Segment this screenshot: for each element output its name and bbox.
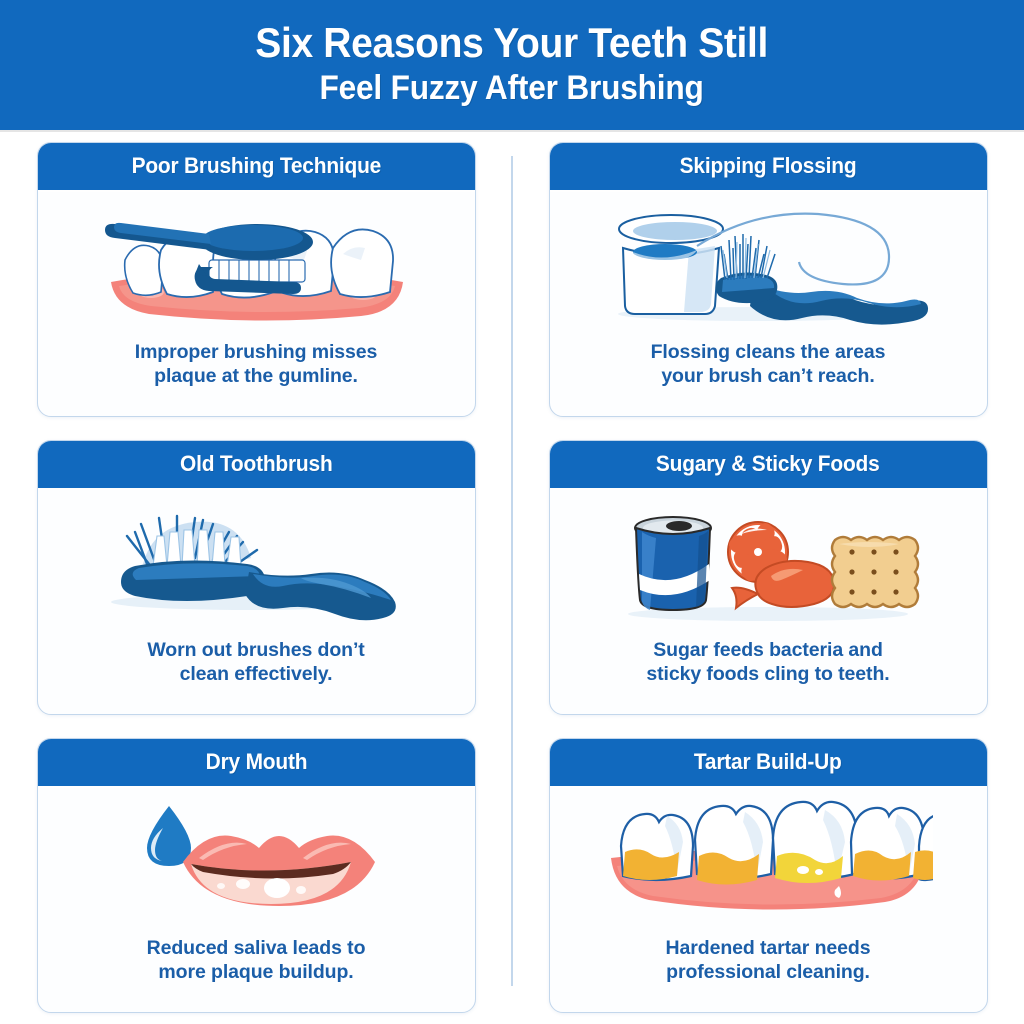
card-title: Tartar Build-Up [694,749,842,775]
page-header-banner: Six Reasons Your Teeth Still Feel Fuzzy … [0,0,1024,130]
card-caption: Improper brushing misses plaque at the g… [135,340,378,390]
card-body: Flossing cleans the areas your brush can… [550,192,987,416]
card-caption: Worn out brushes don’t clean effectively… [147,638,364,688]
card-caption-line1: Improper brushing misses [135,340,378,365]
card-skipping-flossing[interactable]: Skipping Flossing [549,142,988,417]
card-caption: Hardened tartar needs professional clean… [666,936,871,986]
card-caption-line2: professional cleaning. [666,960,871,985]
card-body: Hardened tartar needs professional clean… [550,788,987,1012]
card-caption-line2: clean effectively. [147,662,364,687]
card-caption: Sugar feeds bacteria and sticky foods cl… [646,638,889,688]
page-title-line2: Feel Fuzzy After Brushing [320,69,704,108]
card-dry-mouth[interactable]: Dry Mouth [37,738,476,1013]
card-title: Dry Mouth [205,749,307,775]
card-body: Reduced saliva leads to more plaque buil… [38,788,475,1012]
card-header: Dry Mouth [38,739,475,788]
card-poor-brushing-technique[interactable]: Poor Brushing Technique [37,142,476,417]
card-title: Skipping Flossing [680,153,857,179]
card-title: Old Toothbrush [180,451,333,477]
card-caption-line2: sticky foods cling to teeth. [646,662,889,687]
floss-container-and-toothbrush-icon [564,202,973,332]
card-header: Poor Brushing Technique [38,143,475,192]
card-body: Improper brushing misses plaque at the g… [38,192,475,416]
card-caption-line2: more plaque buildup. [147,960,366,985]
grid-cell: Skipping Flossing [512,130,1024,428]
card-tartar-build-up[interactable]: Tartar Build-Up [549,738,988,1013]
soda-can-icon [635,517,711,610]
grid-cell: Sugary & Sticky Foods [512,428,1024,726]
grid-cell: Dry Mouth [0,726,512,1024]
card-header: Skipping Flossing [550,143,987,192]
card-caption-line1: Reduced saliva leads to [147,936,366,961]
reasons-grid: Poor Brushing Technique [0,130,1024,1024]
grid-cell: Old Toothbrush [0,428,512,726]
soda-candy-cracker-icon [564,500,973,630]
card-caption: Reduced saliva leads to more plaque buil… [147,936,366,986]
card-body: Sugar feeds bacteria and sticky foods cl… [550,490,987,714]
card-caption-line1: Worn out brushes don’t [147,638,364,663]
card-header: Old Toothbrush [38,441,475,490]
card-caption-line1: Sugar feeds bacteria and [646,638,889,663]
card-sugary-sticky-foods[interactable]: Sugary & Sticky Foods [549,440,988,715]
card-caption-line2: your brush can’t reach. [651,364,886,389]
water-drop-icon [147,806,191,866]
card-title: Poor Brushing Technique [131,153,381,179]
card-caption: Flossing cleans the areas your brush can… [651,340,886,390]
card-header: Tartar Build-Up [550,739,987,788]
worn-toothbrush-icon [52,500,461,630]
card-caption-line1: Hardened tartar needs [666,936,871,961]
infographic-page: Six Reasons Your Teeth Still Feel Fuzzy … [0,0,1024,1024]
card-caption-line1: Flossing cleans the areas [651,340,886,365]
card-header: Sugary & Sticky Foods [550,441,987,490]
grid-cell: Tartar Build-Up [512,726,1024,1024]
page-title-line1: Six Reasons Your Teeth Still [256,22,769,65]
teeth-with-tartar-icon [564,798,973,928]
cracker-icon [832,537,918,607]
card-old-toothbrush[interactable]: Old Toothbrush [37,440,476,715]
grid-cell: Poor Brushing Technique [0,130,512,428]
lips-with-water-drop-icon [52,798,461,928]
card-title: Sugary & Sticky Foods [656,451,880,477]
lips-icon [183,836,375,906]
card-caption-line2: plaque at the gumline. [135,364,378,389]
card-body: Worn out brushes don’t clean effectively… [38,490,475,714]
toothbrush-on-teeth-icon [52,202,461,332]
